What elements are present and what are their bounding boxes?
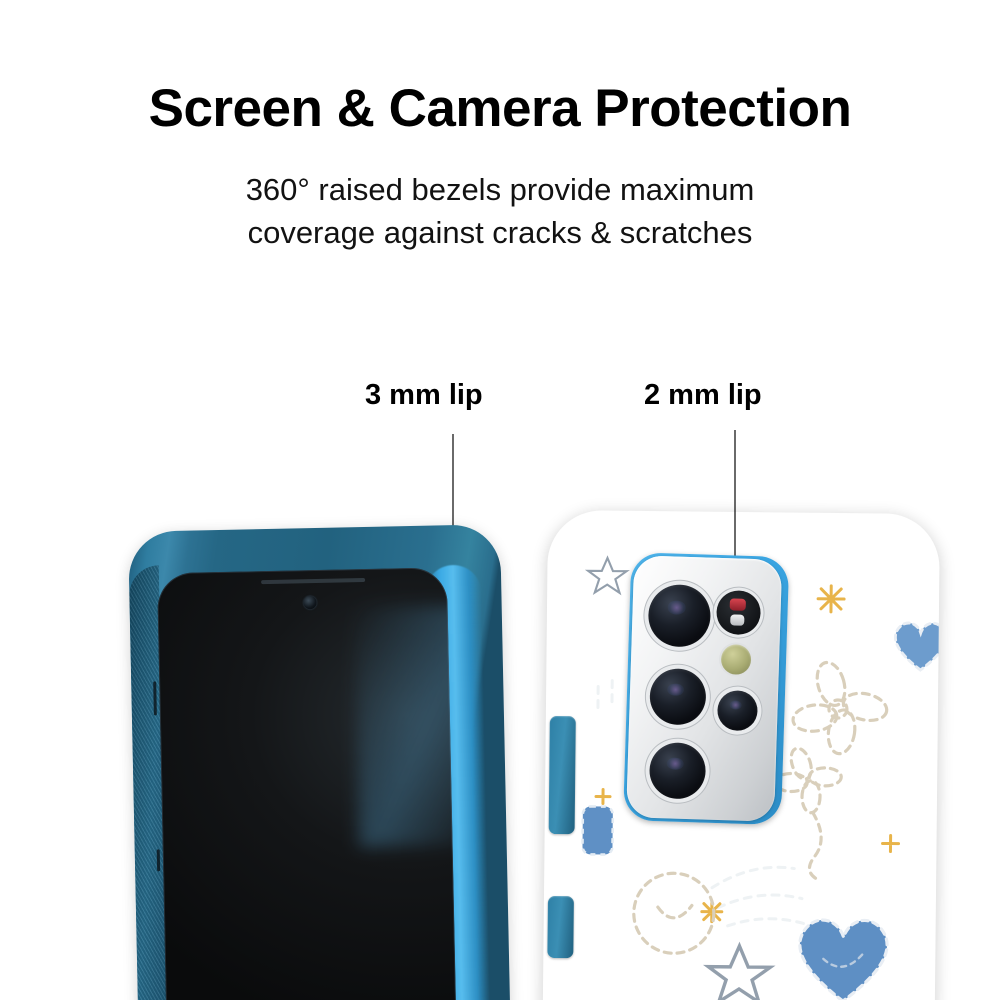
earpiece-slot <box>261 578 365 584</box>
volume-button-cover[interactable] <box>549 716 576 834</box>
phone-front-view <box>128 524 510 1000</box>
phone-back-view: .stitch-cream { fill:none; stroke:#d9cfb… <box>543 510 940 1000</box>
power-button-cover[interactable] <box>547 896 574 958</box>
laser-autofocus-sensor <box>721 644 752 675</box>
camera-lens-4 <box>717 690 758 731</box>
callout-label-camera-lip: 2 mm lip <box>644 379 762 412</box>
subtitle-line-2: coverage against cracks & scratches <box>0 211 1000 254</box>
screen-glare <box>354 605 457 847</box>
phone-screen <box>157 567 457 1000</box>
flash-led-white <box>730 614 744 625</box>
camera-flash-icon <box>716 590 761 635</box>
product-feature-graphic: Screen & Camera Protection 360° raised b… <box>0 0 1000 1000</box>
camera-lens-1 <box>647 584 711 648</box>
camera-module <box>626 555 786 822</box>
flash-led-red <box>730 598 746 610</box>
front-camera-icon <box>303 596 316 609</box>
camera-lens-2 <box>649 668 707 726</box>
subtitle-line-1: 360° raised bezels provide maximum <box>0 168 1000 211</box>
camera-lens-3 <box>649 742 707 800</box>
page-title: Screen & Camera Protection <box>0 78 1000 139</box>
page-subtitle: 360° raised bezels provide maximum cover… <box>0 168 1000 254</box>
camera-plate <box>626 555 782 822</box>
callout-label-front-lip: 3 mm lip <box>365 379 483 412</box>
bezel-seam <box>157 849 160 871</box>
